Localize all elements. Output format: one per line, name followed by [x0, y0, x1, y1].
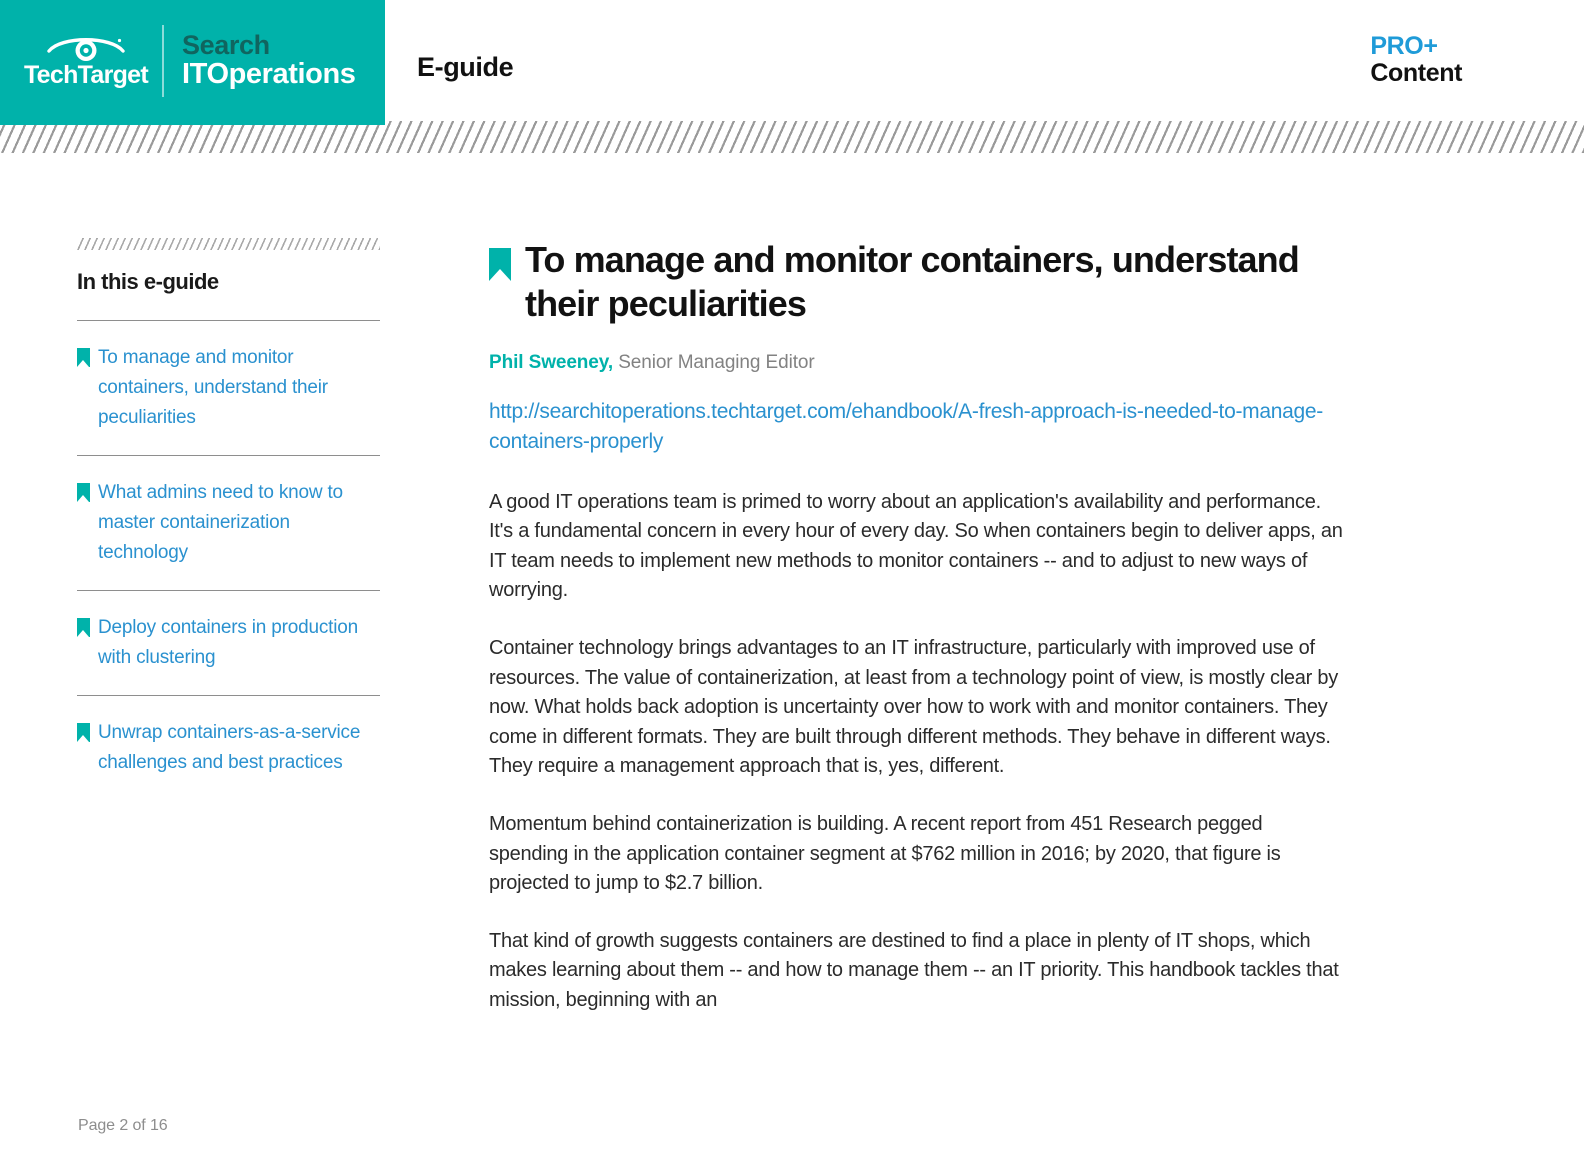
- article-paragraph: Container technology brings advantages t…: [489, 634, 1344, 782]
- eye-icon: [47, 34, 125, 62]
- sidebar-item-label: Unwrap containers-as-a-service challenge…: [98, 718, 380, 778]
- site-name: Search ITOperations: [182, 31, 356, 89]
- article-paragraph: Momentum behind containerization is buil…: [489, 810, 1344, 899]
- bookmark-icon: [77, 483, 90, 502]
- author-name: Phil Sweeney,: [489, 352, 613, 373]
- brand-block: TechTarget Search ITOperations: [0, 0, 385, 121]
- site-name-line2: ITOperations: [182, 59, 356, 89]
- header-hatch-divider: [0, 121, 1584, 153]
- page-number-footer: Page 2 of 16: [78, 1117, 168, 1135]
- article: To manage and monitor containers, unders…: [489, 238, 1344, 1016]
- techtarget-logo: TechTarget: [22, 34, 150, 88]
- sidebar-item-containers-as-a-service[interactable]: Unwrap containers-as-a-service challenge…: [77, 696, 380, 800]
- sidebar-item-label: Deploy containers in production with clu…: [98, 613, 380, 673]
- article-paragraph: That kind of growth suggests containers …: [489, 927, 1344, 1016]
- content-label: Content: [1370, 60, 1462, 87]
- byline: Phil Sweeney, Senior Managing Editor: [489, 352, 1344, 374]
- sidebar-item-manage-monitor-containers[interactable]: To manage and monitor containers, unders…: [77, 321, 380, 455]
- site-name-line1: Search: [182, 31, 356, 59]
- article-body: A good IT operations team is primed to w…: [489, 488, 1344, 1016]
- article-paragraph: A good IT operations team is primed to w…: [489, 488, 1344, 606]
- content-area: In this e-guide To manage and monitor co…: [0, 153, 1584, 1153]
- sidebar-item-label: What admins need to know to master conta…: [98, 478, 380, 568]
- bookmark-icon: [77, 348, 90, 367]
- sidebar-heading: In this e-guide: [77, 269, 380, 295]
- sidebar-hatch-divider: [77, 238, 380, 250]
- page-header: TechTarget Search ITOperations E-guide P…: [0, 0, 1584, 121]
- page-title: To manage and monitor containers, unders…: [525, 238, 1344, 326]
- article-source-link[interactable]: http://searchitoperations.techtarget.com…: [489, 397, 1344, 458]
- sidebar-item-label: To manage and monitor containers, unders…: [98, 343, 380, 433]
- pro-content-badge: PRO+ Content: [1370, 33, 1462, 87]
- bookmark-icon: [77, 618, 90, 637]
- eguide-label: E-guide: [417, 52, 513, 83]
- bookmark-icon: [489, 248, 511, 281]
- techtarget-wordmark: TechTarget: [24, 63, 148, 88]
- sidebar-item-master-containerization[interactable]: What admins need to know to master conta…: [77, 456, 380, 590]
- bookmark-icon: [77, 723, 90, 742]
- pro-plus-label: PRO+: [1370, 33, 1462, 60]
- sidebar-table-of-contents: In this e-guide To manage and monitor co…: [77, 238, 380, 800]
- author-role: Senior Managing Editor: [618, 352, 814, 373]
- eguide-page: TechTarget Search ITOperations E-guide P…: [0, 0, 1584, 1153]
- brand-block-bottom-edge: [0, 121, 385, 125]
- brand-divider: [162, 25, 164, 97]
- article-header: To manage and monitor containers, unders…: [489, 238, 1344, 326]
- sidebar-item-deploy-containers-clustering[interactable]: Deploy containers in production with clu…: [77, 591, 380, 695]
